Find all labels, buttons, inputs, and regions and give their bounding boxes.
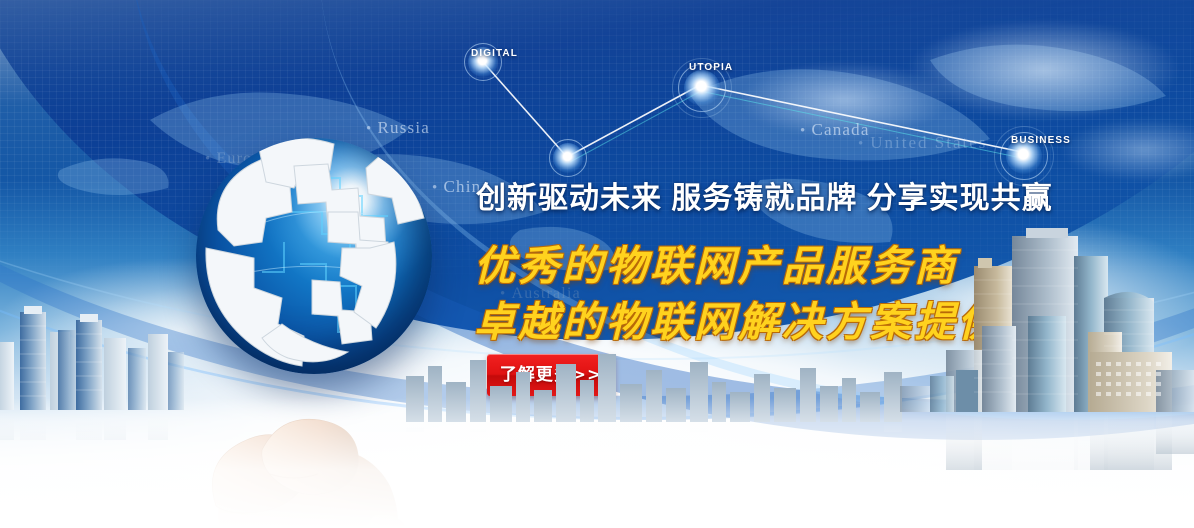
- network-node-label-business: BUSINESS: [1011, 135, 1071, 146]
- banner-headline: 创新驱动未来 服务铸就品牌 分享实现共赢: [476, 173, 1053, 217]
- skyline-right: [900, 220, 1194, 470]
- map-label-united-states: United States: [858, 133, 987, 153]
- network-node-hop-ring: [549, 139, 587, 177]
- skyline-mid: [400, 342, 920, 432]
- banner-subline-1: 优秀的物联网产品服务商: [474, 232, 958, 292]
- skyline-left: [0, 290, 196, 440]
- network-node-label-digital: DIGITAL: [471, 48, 518, 59]
- network-node-label-utopia: UTOPIA: [689, 62, 733, 73]
- hero-banner: DIGITAL UTOPIA BUSINESS Europe Russia Ch…: [0, 0, 1194, 528]
